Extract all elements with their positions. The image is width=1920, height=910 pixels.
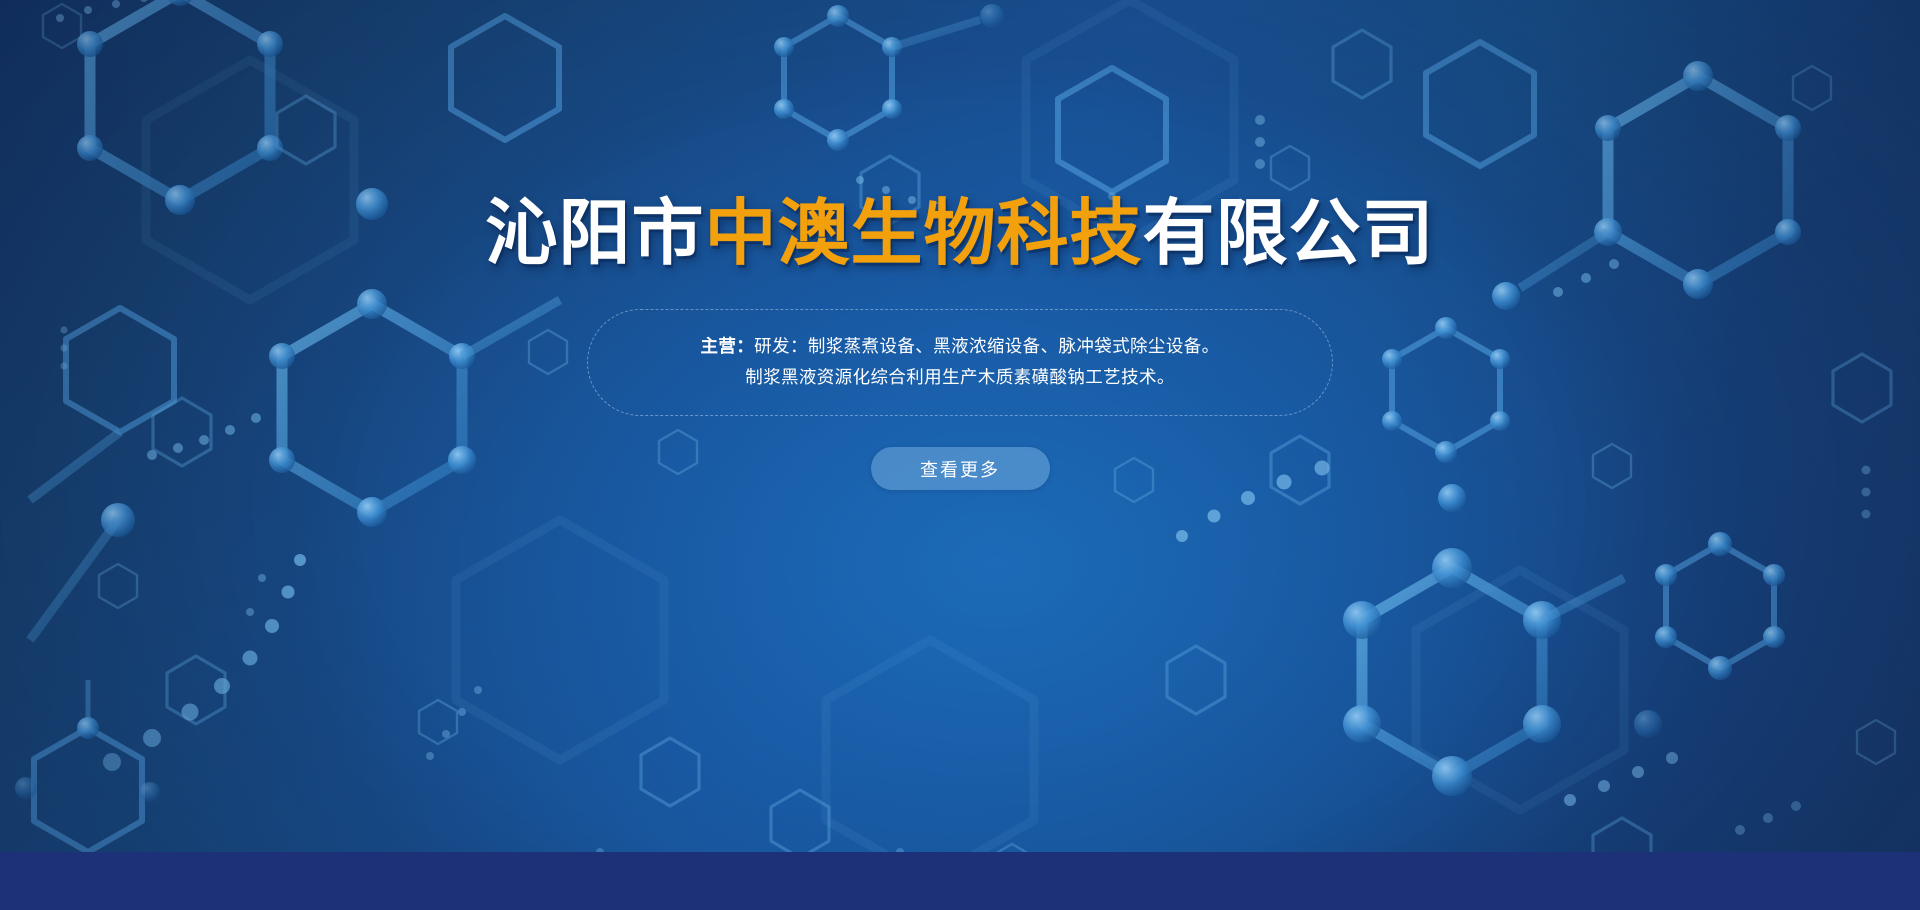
title-accent: 中澳生物科技 [704, 194, 1142, 274]
subtitle-dashed-box: 主营：研发：制浆蒸煮设备、黑液浓缩设备、脉冲袋式除尘设备。 制浆黑液资源化综合利… [587, 309, 1333, 416]
title-suffix: 有限公司 [1143, 194, 1435, 274]
title-prefix: 沁阳市 [485, 194, 704, 274]
bottom-navigation-bar [0, 852, 1920, 910]
hero-content: 沁阳市中澳生物科技有限公司 主营：研发：制浆蒸煮设备、黑液浓缩设备、脉冲袋式除尘… [0, 0, 1920, 852]
view-more-button[interactable]: 查看更多 [871, 447, 1050, 490]
subtitle-line-1: 主营：研发：制浆蒸煮设备、黑液浓缩设备、脉冲袋式除尘设备。 [632, 331, 1288, 362]
subtitle-lead: 主营： [700, 336, 754, 356]
view-more-button-label: 查看更多 [920, 456, 1000, 482]
hero-banner: 沁阳市中澳生物科技有限公司 主营：研发：制浆蒸煮设备、黑液浓缩设备、脉冲袋式除尘… [0, 0, 1920, 910]
page-title: 沁阳市中澳生物科技有限公司 [485, 198, 1434, 271]
subtitle-line-1-rest: 研发：制浆蒸煮设备、黑液浓缩设备、脉冲袋式除尘设备。 [754, 336, 1219, 356]
subtitle-line-2: 制浆黑液资源化综合利用生产木质素磺酸钠工艺技术。 [632, 362, 1288, 393]
